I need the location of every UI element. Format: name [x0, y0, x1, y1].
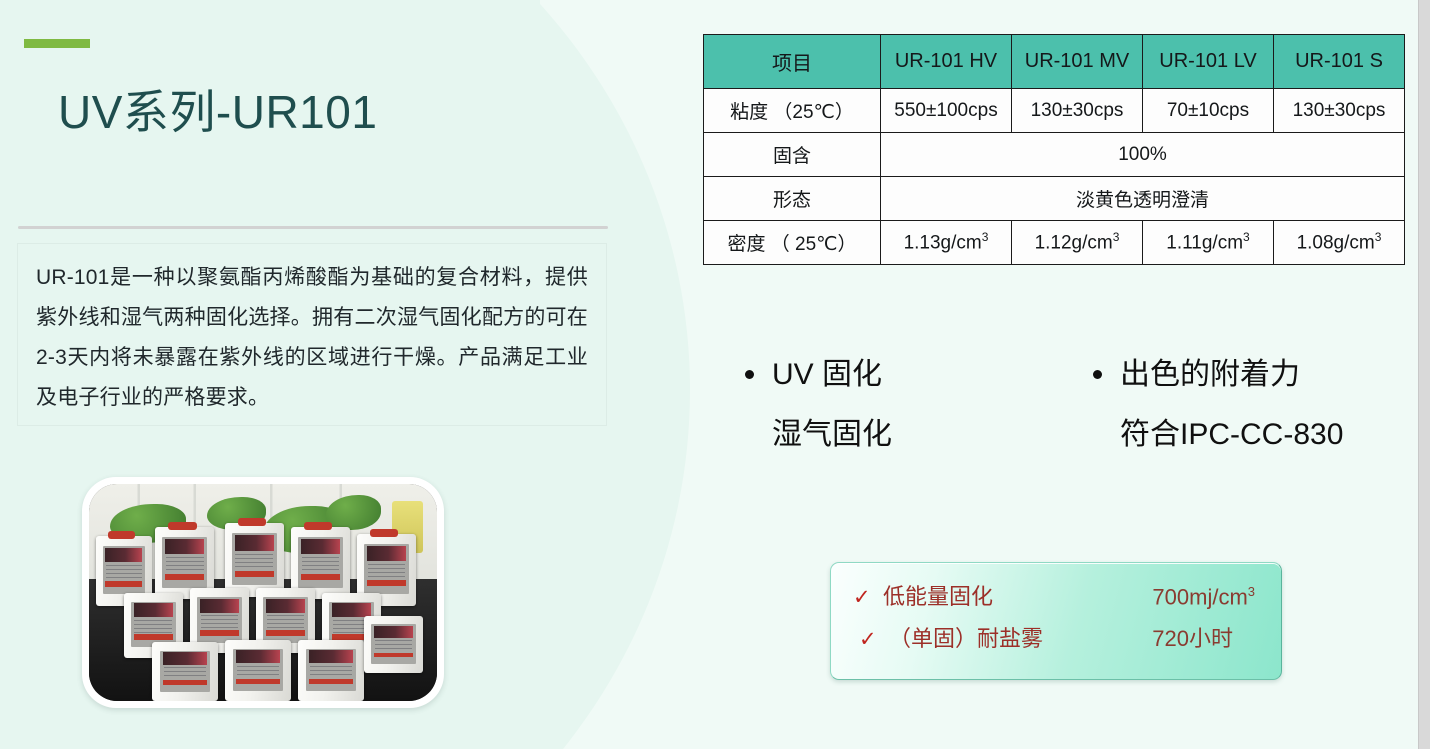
bullet-icon — [1093, 370, 1102, 379]
can-label — [306, 649, 356, 692]
description-text: UR-101是一种以聚氨酯丙烯酸酯为基础的复合材料，提供紫外线和湿气两种固化选择… — [36, 258, 588, 418]
callout-label: 低能量固化 — [883, 579, 1152, 611]
table-cell: 130±30cps — [1274, 89, 1405, 133]
product-can — [225, 523, 284, 597]
can-cap — [108, 531, 135, 539]
table-row: 粘度 （25℃） 550±100cps 130±30cps 70±10cps 1… — [704, 89, 1405, 133]
callout-row: ✓ （单固）耐盐雾 720小时 — [853, 621, 1255, 653]
can-cap — [304, 522, 332, 530]
can-label — [233, 649, 283, 692]
table-header-cell: UR-101 LV — [1143, 35, 1274, 89]
product-photo — [89, 484, 437, 701]
feature-list: UV 固化 湿气固化 出色的附着力 符合IPC-CC-830 — [745, 352, 1385, 458]
description-box: UR-101是一种以聚氨酯丙烯酸酯为基础的复合材料，提供紫外线和湿气两种固化选择… — [17, 243, 607, 426]
table-cell: 1.13g/cm3 — [881, 221, 1012, 265]
can-label — [162, 537, 207, 587]
can-label — [263, 597, 308, 643]
table-cell: 550±100cps — [881, 89, 1012, 133]
product-can — [225, 640, 291, 701]
bullet-icon — [745, 370, 754, 379]
callout-value: 700mj/cm3 — [1152, 584, 1255, 610]
table-cell: 130±30cps — [1012, 89, 1143, 133]
accent-bar — [24, 39, 90, 48]
divider — [18, 226, 608, 229]
table-cell-merged: 淡黄色透明澄清 — [881, 177, 1405, 221]
row-label: 密度 （ 25℃） — [704, 221, 881, 265]
can-label — [364, 544, 409, 594]
table-cell: 70±10cps — [1143, 89, 1274, 133]
product-photo-frame — [82, 477, 444, 708]
check-icon: ✓ — [853, 627, 889, 652]
table-header-cell: 项目 — [704, 35, 881, 89]
feature-line-secondary: 符合IPC-CC-830 — [1120, 412, 1363, 458]
product-can — [364, 616, 423, 672]
feature-line-secondary: 湿气固化 — [772, 412, 1015, 458]
can-label — [197, 597, 242, 643]
table-row: 固含 100% — [704, 133, 1405, 177]
product-can — [152, 642, 218, 701]
slide: UV系列-UR101 UR-101是一种以聚氨酯丙烯酸酯为基础的复合材料，提供紫… — [0, 0, 1430, 749]
can-label — [131, 602, 176, 648]
can-label — [103, 546, 145, 595]
table-cell: 1.11g/cm3 — [1143, 221, 1274, 265]
table-header-cell: UR-101 HV — [881, 35, 1012, 89]
row-label: 固含 — [704, 133, 881, 177]
feature-line-primary: 出色的附着力 — [1120, 352, 1300, 398]
table-cell-merged: 100% — [881, 133, 1405, 177]
highlight-callout-box: ✓ 低能量固化 700mj/cm3 ✓ （单固）耐盐雾 720小时 — [830, 562, 1282, 680]
row-label: 形态 — [704, 177, 881, 221]
table-header-cell: UR-101 S — [1274, 35, 1405, 89]
table-cell: 1.12g/cm3 — [1012, 221, 1143, 265]
page-title: UV系列-UR101 — [58, 76, 377, 142]
product-can — [298, 640, 364, 701]
spec-table: 项目 UR-101 HV UR-101 MV UR-101 LV UR-101 … — [703, 34, 1405, 265]
can-cap — [238, 518, 266, 526]
slide-edge — [1418, 0, 1430, 749]
check-icon: ✓ — [853, 585, 883, 610]
feature-line-primary: UV 固化 — [772, 352, 882, 398]
table-header-cell: UR-101 MV — [1012, 35, 1143, 89]
can-label — [298, 537, 343, 587]
callout-label: （单固）耐盐雾 — [889, 621, 1152, 653]
table-cell: 1.08g/cm3 — [1274, 221, 1405, 265]
can-label — [232, 533, 277, 585]
table-header-row: 项目 UR-101 HV UR-101 MV UR-101 LV UR-101 … — [704, 35, 1405, 89]
row-label: 粘度 （25℃） — [704, 89, 881, 133]
feature-item: 出色的附着力 符合IPC-CC-830 — [1093, 352, 1363, 458]
can-label — [371, 624, 416, 663]
callout-value: 720小时 — [1152, 621, 1255, 653]
can-cap — [168, 522, 196, 530]
feature-item: UV 固化 湿气固化 — [745, 352, 1015, 458]
table-row: 密度 （ 25℃） 1.13g/cm3 1.12g/cm3 1.11g/cm3 … — [704, 221, 1405, 265]
table-row: 形态 淡黄色透明澄清 — [704, 177, 1405, 221]
can-cap — [370, 529, 398, 537]
callout-row: ✓ 低能量固化 700mj/cm3 — [853, 579, 1255, 611]
can-label — [160, 651, 210, 692]
